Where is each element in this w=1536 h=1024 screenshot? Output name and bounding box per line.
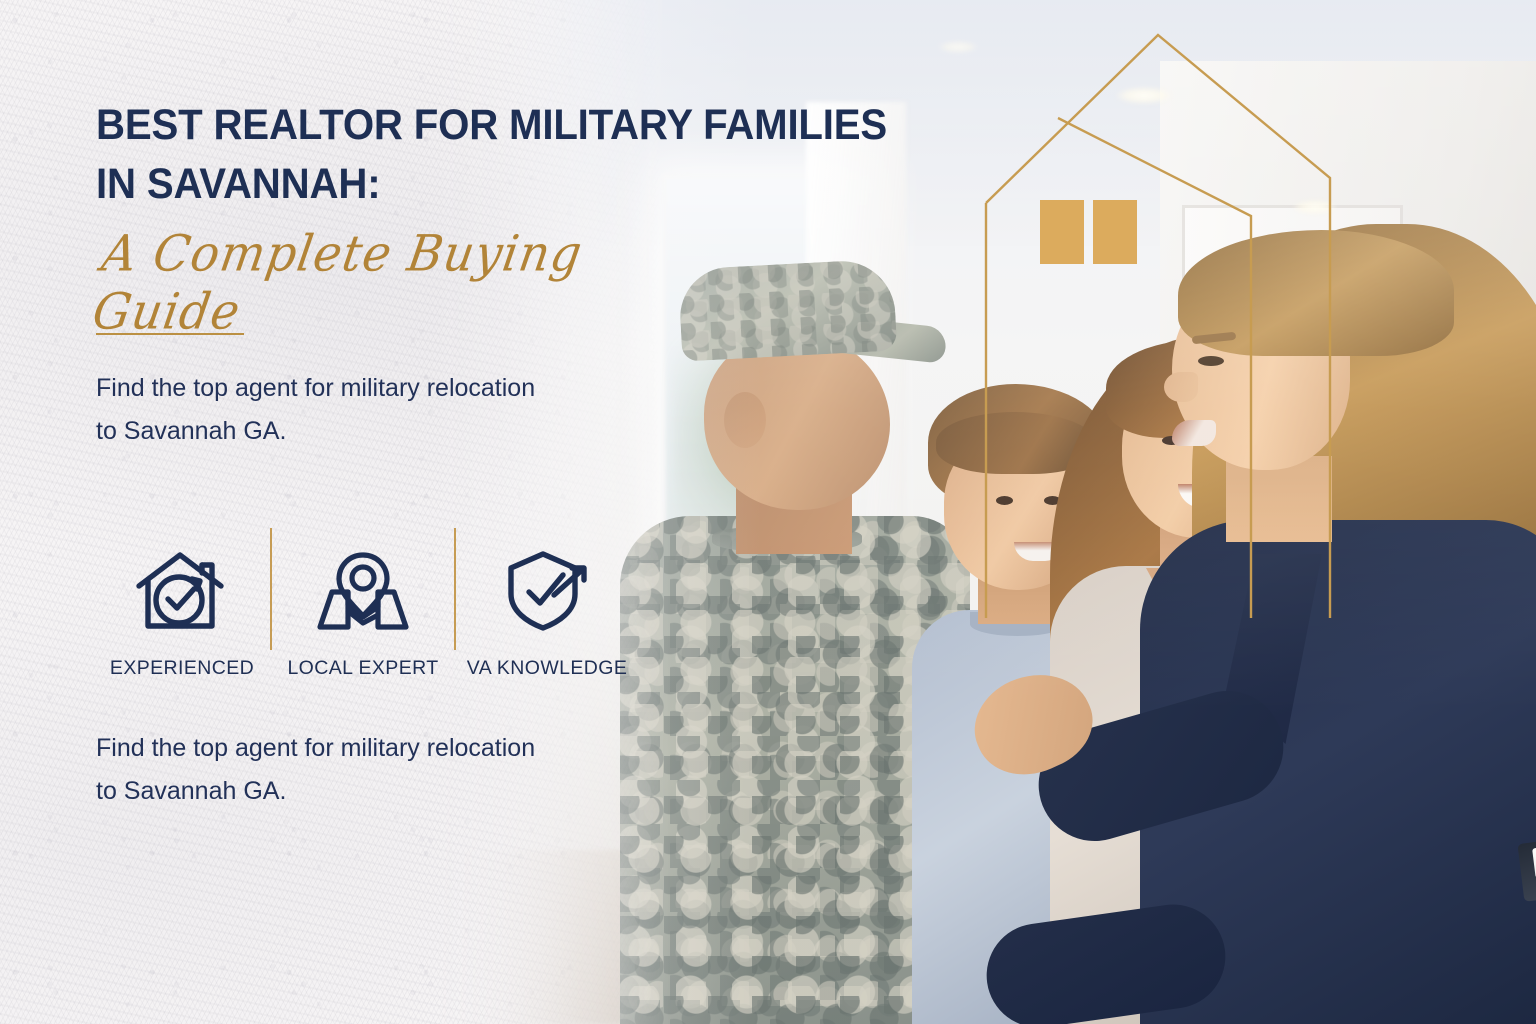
feature-divider <box>270 528 272 650</box>
ceiling-light <box>1293 200 1337 214</box>
feature-label: LOCAL EXPERT <box>287 657 438 680</box>
ceiling-light <box>939 41 977 53</box>
lede-paragraph: Find the top agent for military relocati… <box>96 367 656 453</box>
soldier-ear <box>724 392 766 448</box>
page-title: BEST REALTOR FOR MILITARY FAMILIES IN SA… <box>96 96 938 214</box>
feature-experienced: EXPERIENCED <box>96 545 268 680</box>
feature-divider <box>454 528 456 650</box>
feature-label: VA KNOWLEDGE <box>467 657 627 680</box>
ceiling-light <box>1116 87 1172 104</box>
gold-divider-rule <box>96 333 244 335</box>
house-refresh-check-icon <box>134 545 230 637</box>
boy-eye <box>996 496 1013 505</box>
shield-check-arrow-icon <box>499 545 595 637</box>
marketing-banner: BEST REALTOR FOR MILITARY FAMILIES IN SA… <box>0 0 1536 1024</box>
text-content-column: BEST REALTOR FOR MILITARY FAMILIES IN SA… <box>0 0 700 1024</box>
feature-local-expert: LOCAL EXPERT <box>274 545 452 680</box>
subtitle-script: A Complete Buying Guide <box>89 225 709 342</box>
feature-label: EXPERIENCED <box>110 657 254 680</box>
realtor-figure <box>1106 224 1536 1024</box>
realtor-nose <box>1164 372 1198 402</box>
realtor-eye <box>1198 356 1224 366</box>
feature-va-knowledge: VA KNOWLEDGE <box>458 545 636 680</box>
soldier-cap <box>678 258 898 361</box>
feature-badges: EXPERIENCED LOCAL EXPERT <box>96 528 636 680</box>
realtor-mouth <box>1172 420 1216 446</box>
outro-paragraph: Find the top agent for military relocati… <box>96 727 656 813</box>
map-location-pin-icon <box>315 545 411 637</box>
